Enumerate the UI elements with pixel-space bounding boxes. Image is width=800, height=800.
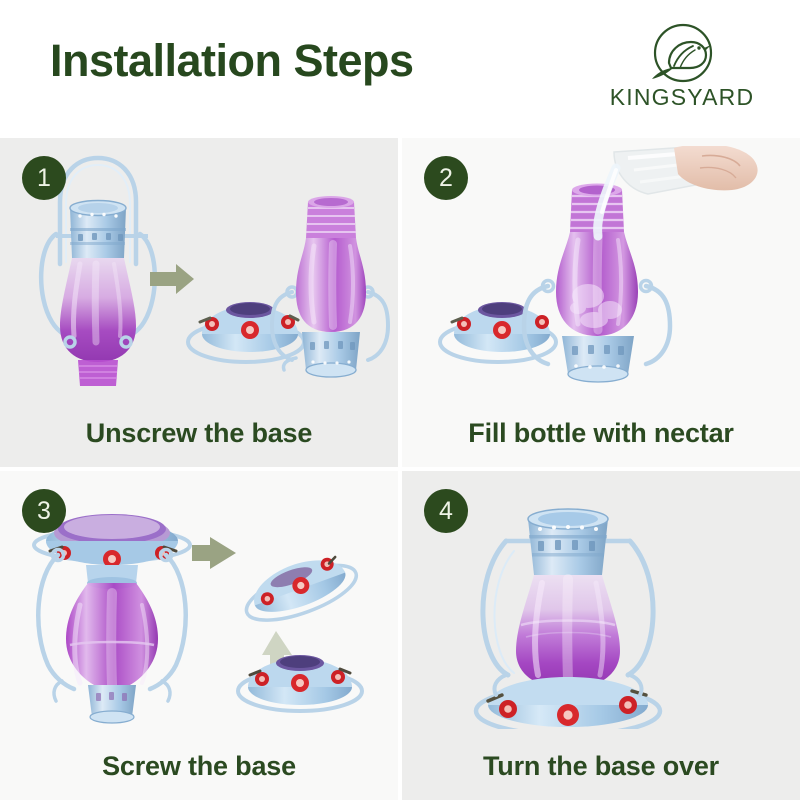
step-caption-3: Screw the base [0, 751, 398, 782]
step-caption-4: Turn the base over [402, 751, 800, 782]
header: Installation Steps KINGSYARD [0, 0, 800, 138]
step-panel-2: 2 [402, 138, 800, 467]
step-panel-4: 4 [402, 471, 800, 800]
brand-name: KINGSYARD [594, 84, 770, 111]
step-panel-1: 1 [0, 138, 398, 467]
steps-grid: 1 [0, 138, 800, 800]
installation-steps-infographic: Installation Steps KINGSYARD 1 [0, 0, 800, 800]
step-caption-1: Unscrew the base [0, 418, 398, 449]
step-badge-1: 1 [22, 156, 66, 200]
brand-logo: KINGSYARD [594, 22, 770, 124]
step-panel-3: 3 [0, 471, 398, 800]
bird-in-circle-logo-icon [638, 22, 728, 84]
step-badge-3: 3 [22, 489, 66, 533]
step-caption-2: Fill bottle with nectar [402, 418, 800, 449]
step-badge-4: 4 [424, 489, 468, 533]
up-left-arrow-icon-top [192, 537, 236, 569]
step-badge-2: 2 [424, 156, 468, 200]
page-title: Installation Steps [50, 36, 414, 86]
